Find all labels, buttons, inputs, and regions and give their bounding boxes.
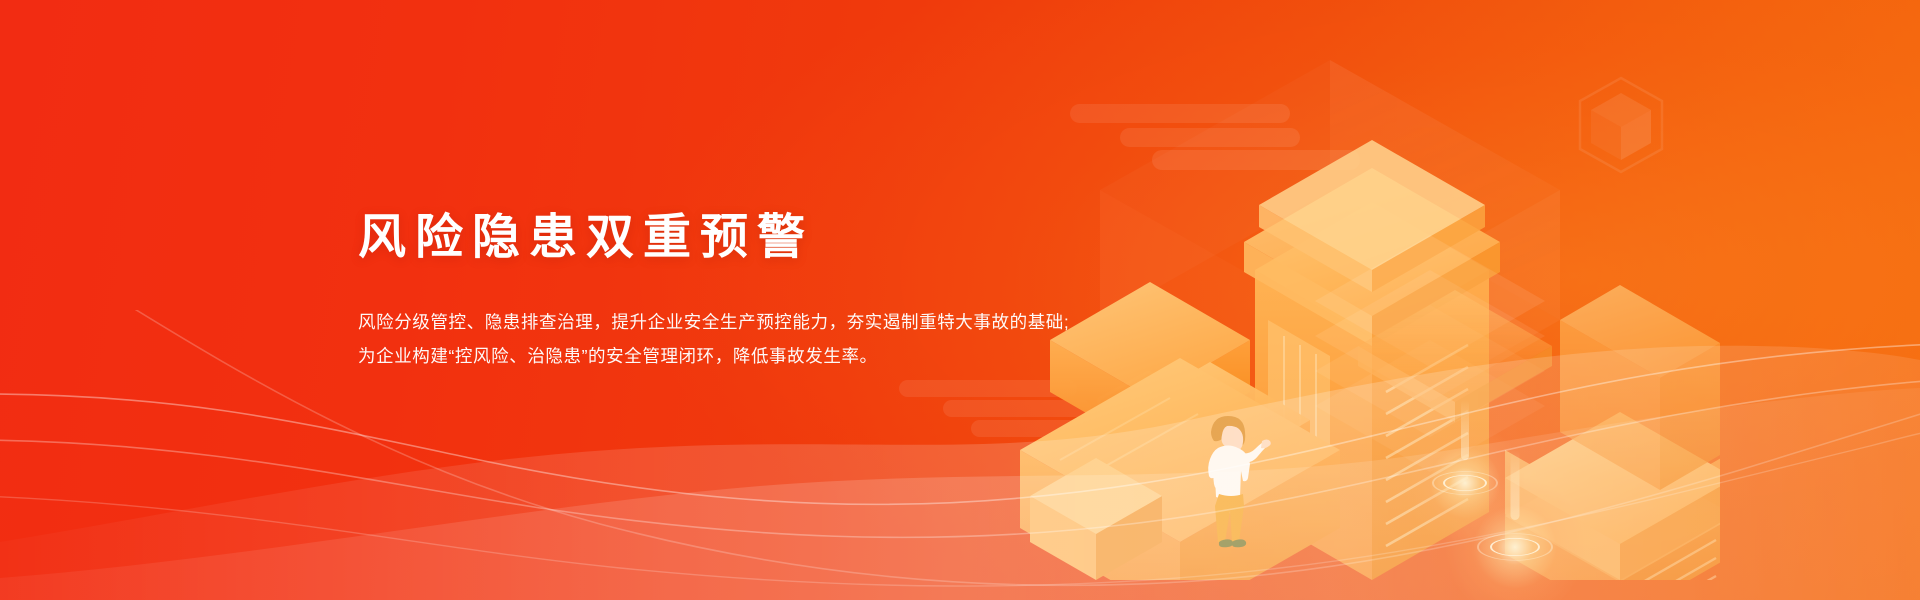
subtitle-line-1: 风险分级管控、隐患排查治理，提升企业安全生产预控能力，夯实遏制重特大事故的基础; (358, 305, 1258, 339)
glow-particle-1 (1400, 400, 1530, 530)
hero-copy-block: 风险隐患双重预警 风险分级管控、隐患排查治理，提升企业安全生产预控能力，夯实遏制… (358, 210, 1258, 373)
subtitle-line-2: 为企业构建“控风险、治隐患”的安全管理闭环，降低事故发生率。 (358, 339, 1258, 373)
glow-particle-2 (1440, 450, 1590, 600)
page-title: 风险隐患双重预警 (358, 210, 1258, 267)
hex-cube-large-icon (1093, 368, 1203, 486)
hex-cube-corner-icon (1575, 75, 1667, 175)
cloud-motif-bottom-icon (895, 378, 1115, 438)
hero-banner: 风险隐患双重预警 风险分级管控、隐患排查治理，提升企业安全生产预控能力，夯实遏制… (0, 0, 1920, 600)
hex-cube-small-icon (1262, 298, 1347, 390)
cloud-motif-top-icon (1062, 100, 1322, 170)
person-illustration (1195, 410, 1275, 560)
hero-subtitle: 风险分级管控、隐患排查治理，提升企业安全生产预控能力，夯实遏制重特大事故的基础;… (358, 305, 1258, 373)
